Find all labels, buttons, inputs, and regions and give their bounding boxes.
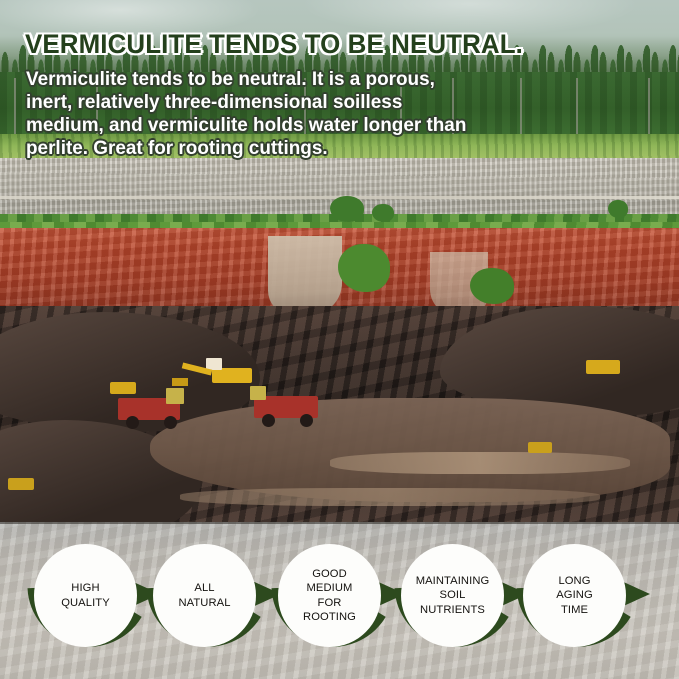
pit-floor <box>150 398 670 502</box>
truck-left-cab <box>166 388 184 404</box>
haul-road-lower <box>180 488 600 506</box>
page-body-text: Vermiculite tends to be neutral. It is a… <box>26 68 482 160</box>
truck-center-cab <box>250 386 266 400</box>
bush-right <box>608 200 628 218</box>
pale-gully-center <box>268 236 342 314</box>
truck-center-wheel-rear <box>262 414 275 427</box>
page-title: VERMICULITE TENDS TO BE NEUTRAL. <box>25 29 523 60</box>
poster-root: VERMICULITE TENDS TO BE NEUTRAL. Vermicu… <box>0 0 679 679</box>
excavator-bucket <box>172 378 188 386</box>
bush-on-wall <box>338 244 390 292</box>
yellow-machine-right-lower <box>528 442 552 453</box>
benefit-circle-4[interactable]: MAINTAININGSOILNUTRIENTS <box>401 544 504 647</box>
yellow-machine-bottom-left <box>8 478 34 490</box>
truck-left-wheel-front <box>164 416 177 429</box>
benefit-circle-3[interactable]: GOODMEDIUMFORROOTING <box>278 544 381 647</box>
benefit-label-4: MAINTAININGSOILNUTRIENTS <box>416 574 490 617</box>
yellow-excavator <box>212 368 252 383</box>
bush-center <box>330 196 364 222</box>
benefit-circle-1[interactable]: HIGHQUALITY <box>34 544 137 647</box>
benefit-circle-2[interactable]: ALLNATURAL <box>153 544 256 647</box>
benefit-label-5: LONGAGINGTIME <box>556 574 593 617</box>
yellow-dozer-right <box>586 360 620 374</box>
bush-on-wall-2 <box>470 268 514 304</box>
benefits-panel: HIGHQUALITY ALLNATURAL GOODMEDIUMFORROOT… <box>0 522 679 679</box>
benefit-label-3: GOODMEDIUMFORROOTING <box>303 567 356 624</box>
truck-left-wheel-rear <box>126 416 139 429</box>
bush-center-2 <box>372 204 394 222</box>
haul-road <box>330 452 630 474</box>
benefit-circle-5[interactable]: LONGAGINGTIME <box>523 544 626 647</box>
benefit-label-1: HIGHQUALITY <box>61 581 110 609</box>
truck-center-wheel-front <box>300 414 313 427</box>
benefit-label-2: ALLNATURAL <box>178 581 230 609</box>
yellow-loader-far-left <box>110 382 136 394</box>
